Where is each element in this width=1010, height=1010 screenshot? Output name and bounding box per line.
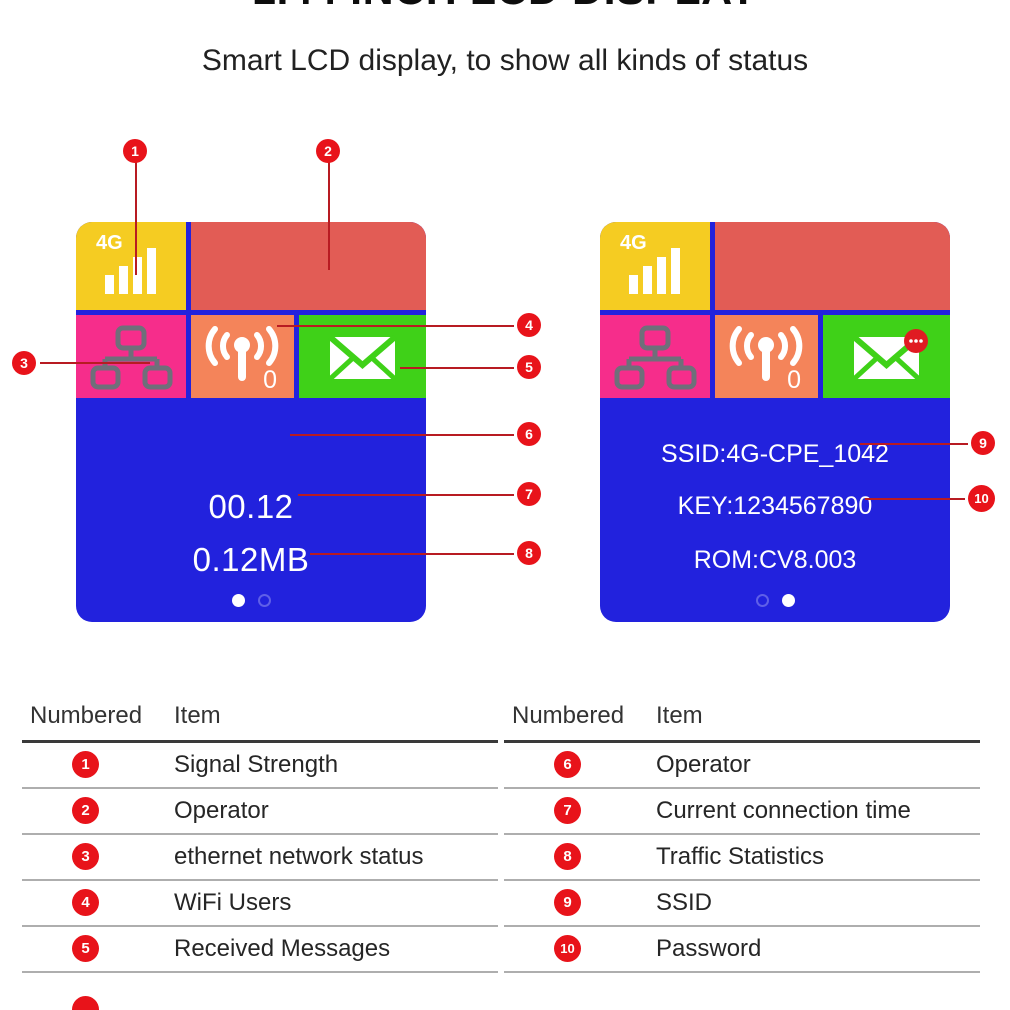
row-item-label: Operator [174, 797, 269, 825]
leader-line-7 [298, 494, 514, 496]
table-row: 10 Password [504, 927, 980, 971]
envelope-icon [823, 315, 950, 398]
row-number-badge: 8 [554, 843, 581, 870]
page-dot-1 [232, 594, 245, 607]
callout-3: 3 [12, 351, 36, 375]
received-messages-tile [823, 315, 950, 398]
table-rule [22, 971, 498, 973]
signal-strength-tile: 4G [76, 222, 186, 310]
row-number-badge: 9 [554, 889, 581, 916]
leader-line-4 [277, 325, 514, 327]
table-row: 7 Current connection time [504, 789, 980, 833]
operator-tile [191, 222, 426, 310]
lcd-screen-left: 4G 0 00.12 [76, 222, 426, 622]
row-item-label: Traffic Statistics [656, 843, 824, 871]
page-title: 1.44 INCH LCD DISPLAY [0, 0, 1010, 18]
row-number-badge: 7 [554, 797, 581, 824]
row-number-badge [72, 996, 99, 1010]
callout-2: 2 [316, 139, 340, 163]
page-dot-2 [782, 594, 795, 607]
callout-6: 6 [517, 422, 541, 446]
callout-8: 8 [517, 541, 541, 565]
page-subtitle: Smart LCD display, to show all kinds of … [0, 44, 1010, 78]
leader-line-2 [328, 160, 330, 270]
table-row-clipped [22, 996, 982, 1010]
leader-line-10 [865, 498, 965, 500]
callout-7: 7 [517, 482, 541, 506]
ethernet-status-tile [600, 315, 710, 398]
column-header-item: Item [174, 702, 221, 730]
table-rule [504, 971, 980, 973]
signal-bars-icon [629, 248, 680, 294]
table-row: 2 Operator [22, 789, 498, 833]
column-header-numbered: Numbered [30, 702, 142, 730]
row-number-badge: 5 [72, 935, 99, 962]
row-item-label: WiFi Users [174, 889, 291, 917]
callout-10: 10 [968, 485, 995, 512]
ethernet-status-tile [76, 315, 186, 398]
wifi-user-count: 0 [263, 368, 277, 393]
signal-bars-icon [105, 248, 156, 294]
ethernet-network-icon [600, 315, 710, 398]
wifi-users-tile: 0 [715, 315, 818, 398]
table-row: 1 Signal Strength [22, 743, 498, 787]
traffic-statistics-value: 0.12MB [76, 541, 426, 579]
callout-9: 9 [971, 431, 995, 455]
page-indicator-left [76, 594, 426, 607]
wifi-broadcast-icon [715, 315, 818, 398]
signal-strength-tile: 4G [600, 222, 710, 310]
page-dot-1 [756, 594, 769, 607]
row-number-badge: 1 [72, 751, 99, 778]
callout-4: 4 [517, 313, 541, 337]
unread-badge-icon [904, 329, 928, 353]
table-row: 3 ethernet network status [22, 835, 498, 879]
rom-version-value: ROM:CV8.003 [600, 546, 950, 575]
leader-line-6 [290, 434, 514, 436]
row-item-label: SSID [656, 889, 712, 917]
row-number-badge: 4 [72, 889, 99, 916]
legend-table-left: Numbered Item 1 Signal Strength 2 Operat… [22, 696, 498, 973]
column-header-item: Item [656, 702, 703, 730]
leader-line-9 [860, 443, 968, 445]
row-item-label: Received Messages [174, 935, 390, 963]
table-row: 8 Traffic Statistics [504, 835, 980, 879]
row-item-label: Current connection time [656, 797, 911, 825]
table-row: 5 Received Messages [22, 927, 498, 971]
table-row: 9 SSID [504, 881, 980, 925]
row-number-badge: 2 [72, 797, 99, 824]
row-number-badge: 3 [72, 843, 99, 870]
row-item-label: Signal Strength [174, 751, 338, 779]
table-header-left: Numbered Item [22, 696, 498, 740]
table-header-right: Numbered Item [504, 696, 980, 740]
wifi-users-tile: 0 [191, 315, 294, 398]
received-messages-tile [299, 315, 426, 398]
lcd-left-body: 00.12 0.12MB [76, 398, 426, 622]
password-value: KEY:1234567890 [600, 492, 950, 521]
callout-1: 1 [123, 139, 147, 163]
row-number-badge: 10 [554, 935, 581, 962]
leader-line-1 [135, 160, 137, 275]
envelope-icon [299, 315, 426, 398]
row-number-badge: 6 [554, 751, 581, 778]
lcd-right-body: SSID:4G-CPE_1042 KEY:1234567890 ROM:CV8.… [600, 398, 950, 622]
leader-line-3 [40, 362, 150, 364]
page-title-clip: 1.44 INCH LCD DISPLAY [0, 0, 1010, 18]
legend-table-right: Numbered Item 6 Operator 7 Current conne… [504, 696, 980, 973]
wifi-user-count: 0 [787, 368, 801, 393]
table-row: 4 WiFi Users [22, 881, 498, 925]
callout-5: 5 [517, 355, 541, 379]
leader-line-8 [310, 553, 514, 555]
page-indicator-right [600, 594, 950, 607]
row-item-label: ethernet network status [174, 843, 423, 871]
leader-line-5 [400, 367, 514, 369]
wifi-broadcast-icon [191, 315, 294, 398]
table-row: 6 Operator [504, 743, 980, 787]
ethernet-network-icon [76, 315, 186, 398]
lcd-screen-right: 4G 0 [600, 222, 950, 622]
operator-tile [715, 222, 950, 310]
column-header-numbered: Numbered [512, 702, 624, 730]
row-item-label: Operator [656, 751, 751, 779]
page-dot-2 [258, 594, 271, 607]
row-item-label: Password [656, 935, 761, 963]
